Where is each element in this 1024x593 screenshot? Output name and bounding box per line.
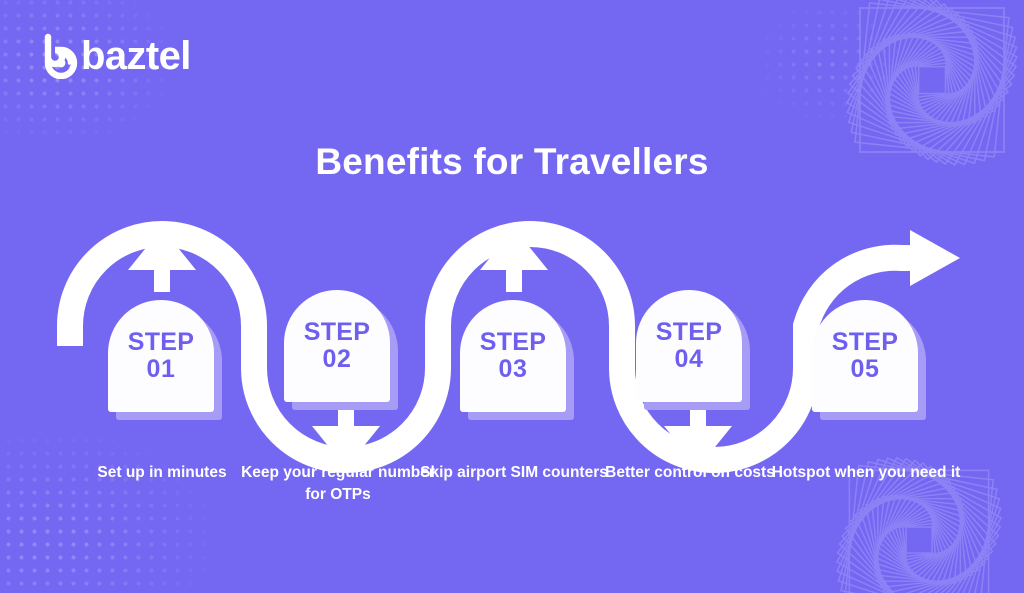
spiral-vortex-icon <box>782 0 1024 230</box>
step-label: STEP <box>832 329 899 356</box>
signal-arc-icon <box>38 33 84 79</box>
badge-plate: STEP 04 <box>636 290 742 402</box>
step-caption-05: Hotspot when you need it <box>761 462 971 484</box>
step-label: STEP <box>304 319 371 346</box>
step-number: 05 <box>850 356 879 383</box>
step-badge-03[interactable]: STEP 03 <box>460 300 566 412</box>
badge-plate: STEP 01 <box>108 300 214 412</box>
halftone-dots-icon <box>735 0 945 160</box>
page-title: Benefits for Travellers <box>0 141 1024 183</box>
step-badge-04[interactable]: STEP 04 <box>636 290 742 402</box>
step-label: STEP <box>480 329 547 356</box>
badge-plate: STEP 03 <box>460 300 566 412</box>
step-number: 01 <box>146 356 175 383</box>
badge-plate: STEP 05 <box>812 300 918 412</box>
brand-name: baztel <box>81 36 191 76</box>
step-badge-02[interactable]: STEP 02 <box>284 290 390 402</box>
badge-plate: STEP 02 <box>284 290 390 402</box>
infographic-canvas: baztel Benefits for Travellers STEP 01 <box>0 0 1024 593</box>
step-badge-01[interactable]: STEP 01 <box>108 300 214 412</box>
step-number: 03 <box>498 356 527 383</box>
step-number: 04 <box>674 346 703 373</box>
step-label: STEP <box>128 329 195 356</box>
step-number: 02 <box>322 346 351 373</box>
brand-logo[interactable]: baztel <box>38 33 191 79</box>
step-label: STEP <box>656 319 723 346</box>
step-badge-05[interactable]: STEP 05 <box>812 300 918 412</box>
